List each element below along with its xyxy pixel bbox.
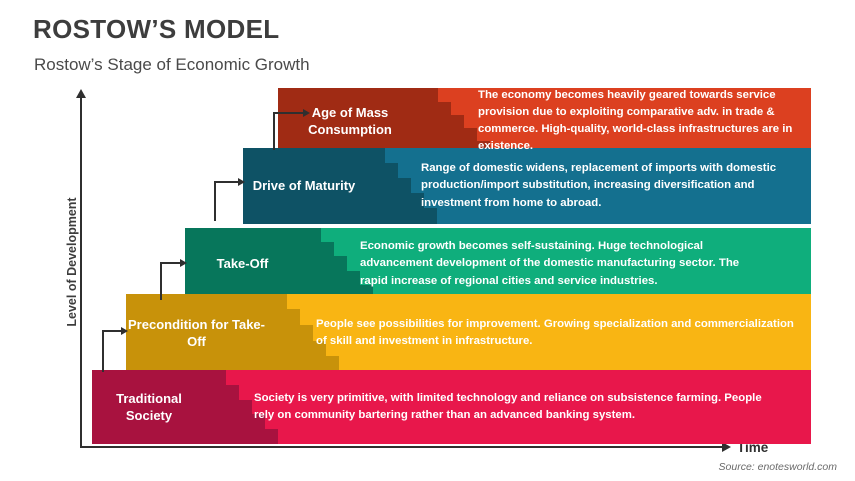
stage-label: Traditional Society	[92, 370, 206, 444]
stage-description: Range of domestic widens, replacement of…	[421, 148, 781, 224]
stage-description: People see possibilities for improvement…	[316, 294, 796, 372]
stage-connector-arrow-4	[214, 181, 254, 221]
stage-connector-arrow-5	[273, 112, 313, 150]
stage-traditional-society[interactable]: Traditional Society Society is very prim…	[92, 370, 811, 444]
stage-description: Economic growth becomes self-sustaining.…	[360, 228, 760, 300]
stage-description: The economy becomes heavily geared towar…	[478, 88, 798, 154]
stage-description: Society is very primitive, with limited …	[254, 370, 774, 444]
y-axis-label: Level of Development	[65, 182, 79, 342]
source-credit: Source: enotesworld.com	[719, 461, 837, 473]
page-subtitle: Rostow’s Stage of Economic Growth	[34, 55, 310, 75]
y-axis-arrow-icon	[76, 89, 86, 98]
stage-age-of-mass-consumption[interactable]: Age of Mass Consumption The economy beco…	[278, 88, 811, 154]
stage-connector-arrow-3	[160, 262, 200, 300]
stage-label: Take-Off	[185, 228, 300, 300]
stage-connector-arrow-2	[102, 330, 142, 372]
stage-label: Precondition for Take-Off	[126, 294, 267, 372]
page-title: ROSTOW’S MODEL	[33, 14, 279, 45]
stage-drive-of-maturity[interactable]: Drive of Maturity Range of domestic wide…	[243, 148, 811, 224]
stage-precondition-for-take-off[interactable]: Precondition for Take-Off People see pos…	[126, 294, 811, 372]
stage-label: Drive of Maturity	[243, 148, 365, 224]
stage-take-off[interactable]: Take-Off Economic growth becomes self-su…	[185, 228, 811, 300]
y-axis-line	[80, 96, 82, 448]
x-axis-line	[80, 446, 724, 448]
